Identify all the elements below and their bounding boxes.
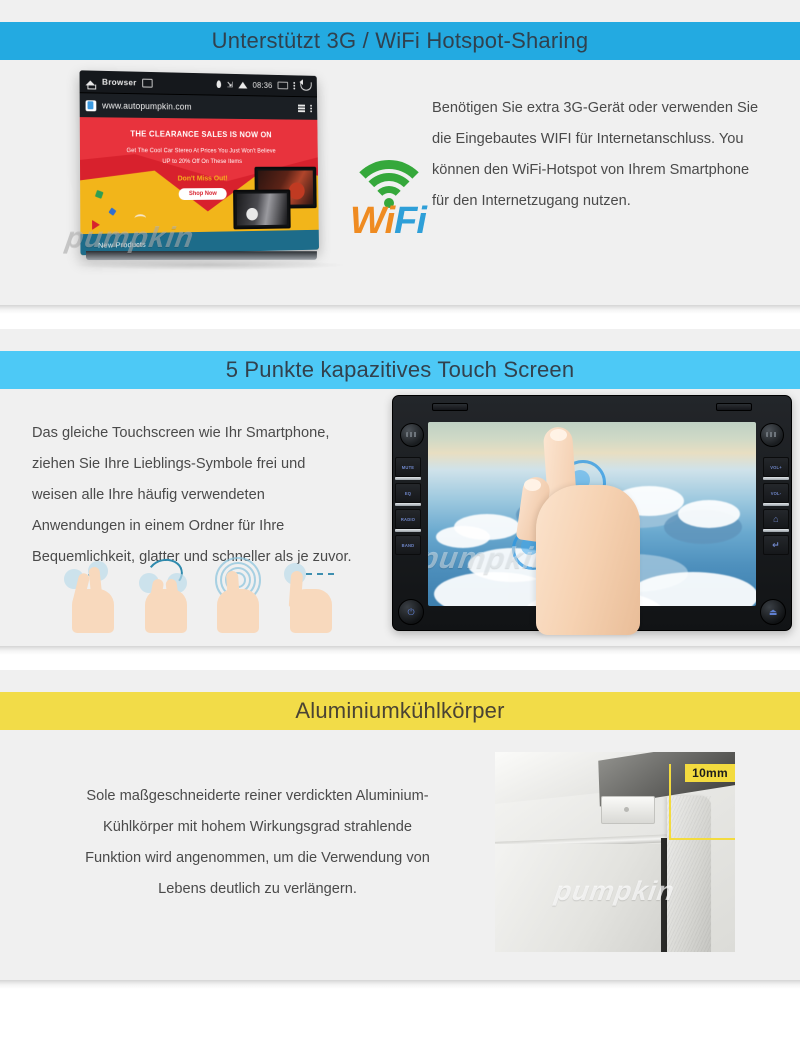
top-slot-left <box>432 403 468 411</box>
eject-icon[interactable]: ⏏ <box>760 599 786 625</box>
gap-after-section-1 <box>0 319 800 329</box>
button-divider <box>395 503 421 506</box>
top-slot-right <box>716 403 752 411</box>
wifi-signal-icon <box>238 81 247 88</box>
section-2-body-text: Das gleiche Touchscreen wie Ihr Smartpho… <box>32 418 352 573</box>
section-2-banner-title: 5 Punkte kapazitives Touch Screen <box>0 351 800 389</box>
location-pin-icon <box>217 80 222 88</box>
button-divider <box>395 529 421 532</box>
ad-headline: THE CLEARANCE SALES IS NOW ON <box>80 129 318 139</box>
palm <box>536 485 640 635</box>
section-3-body-text: Sole maßgeschneiderte reiner verdickten … <box>85 781 430 905</box>
back-arrow-icon[interactable]: ↵ <box>763 535 789 555</box>
bluetooth-icon: ⇲ <box>227 80 233 89</box>
browser-app-title: Browser <box>102 77 137 88</box>
aluminium-heatsink-fin <box>667 796 711 952</box>
section-2-top-padding <box>0 329 800 351</box>
section-1-banner-title: Unterstützt 3G / WiFi Hotspot-Sharing <box>0 22 800 60</box>
tablet-drop-shadow <box>76 260 344 270</box>
section-3-top-padding <box>0 670 800 692</box>
back-arrow-icon[interactable] <box>300 82 311 91</box>
pumpkin-watermark: pumpkin <box>553 876 677 907</box>
hand <box>217 589 259 633</box>
eq-button[interactable]: EQ <box>395 483 421 503</box>
section-wifi-hotspot: Unterstützt 3G / WiFi Hotspot-Sharing Br… <box>0 0 800 319</box>
browser-url-bar[interactable]: www.autopumpkin.com <box>80 92 318 120</box>
section-1-body: Browser ⇲ 08:36 <box>0 60 800 305</box>
section-1-top-padding <box>0 0 800 22</box>
mute-button[interactable]: MUTE <box>395 457 421 477</box>
button-divider <box>395 477 421 480</box>
hand <box>72 589 114 633</box>
confetti-shape <box>92 220 100 230</box>
ad-subline-2: UP to 20% Off On These Items <box>80 158 318 165</box>
ad-subline-1: Get The Cool Car Stereo At Prices You Ju… <box>80 147 318 155</box>
battery-icon <box>278 82 289 90</box>
shop-now-button[interactable]: Shop Now <box>179 188 227 200</box>
overflow-menu-icon[interactable] <box>310 105 312 113</box>
measurement-guide-horizontal <box>669 838 735 840</box>
car-stereo-image-front <box>233 189 291 229</box>
power-icon[interactable]: ⏻ <box>398 599 424 625</box>
section-3-body: Sole maßgeschneiderte reiner verdickten … <box>0 730 800 980</box>
measurement-guide-vertical <box>669 764 671 840</box>
volume-up-button[interactable]: VOL+ <box>763 457 789 477</box>
site-favicon <box>86 100 97 111</box>
tabs-icon[interactable] <box>298 105 305 112</box>
wifi-logo-text: WiFi <box>340 202 436 240</box>
status-bar-clock: 08:36 <box>253 80 273 90</box>
product-feature-page: Unterstützt 3G / WiFi Hotspot-Sharing Br… <box>0 0 800 1020</box>
car-stereo-head-unit: MUTE EQ RADIO BAND VOL+ VOL- ⌂ ↵ ⏻ ⏏ <box>392 395 792 631</box>
wifi-letter-w: W <box>350 200 385 242</box>
heatsink-photo: 10mm pumpkin <box>495 752 735 952</box>
section-1-body-text: Benötigen Sie extra 3G-Gerät oder verwen… <box>432 93 762 217</box>
swipe-gesture-icon <box>280 559 343 633</box>
wifi-letter-f: F <box>394 200 416 242</box>
section-3-banner-title: Aluminiumkühlkörper <box>0 692 800 730</box>
rotate-gesture-icon <box>135 559 198 633</box>
cast-icon[interactable] <box>142 78 152 87</box>
band-button[interactable]: BAND <box>395 535 421 555</box>
button-divider <box>763 529 789 532</box>
tablet-stand-foot <box>86 251 317 260</box>
hand <box>290 589 332 633</box>
home-icon[interactable] <box>85 76 96 87</box>
page-bottom-fill <box>0 994 800 1046</box>
section-1-divider <box>0 305 800 319</box>
clearance-sale-ad-banner[interactable]: THE CLEARANCE SALES IS NOW ON Get The Co… <box>80 117 319 255</box>
section-2-body: Das gleiche Touchscreen wie Ihr Smartpho… <box>0 389 800 646</box>
touching-hand-illustration <box>514 413 664 633</box>
motion-dash <box>306 573 334 575</box>
confetti-shape <box>95 190 104 199</box>
url-input[interactable]: www.autopumpkin.com <box>102 101 293 113</box>
ad-product-images <box>231 167 313 227</box>
android-browser-device-mock: Browser ⇲ 08:36 <box>72 70 352 270</box>
wifi-letter-i: i <box>385 200 395 242</box>
hand <box>145 589 187 633</box>
ad-footer-label: New Products <box>98 239 146 249</box>
left-knob[interactable] <box>400 423 424 447</box>
tablet-bezel: Browser ⇲ 08:36 <box>80 70 319 255</box>
section-3-divider <box>0 980 800 994</box>
button-divider <box>763 477 789 480</box>
tablet-perspective-wrapper: Browser ⇲ 08:36 <box>80 70 319 255</box>
pinch-gesture-icon <box>62 559 125 633</box>
section-touch-screen: 5 Punkte kapazitives Touch Screen Das gl… <box>0 329 800 660</box>
radio-button[interactable]: RADIO <box>395 509 421 529</box>
wifi-letter-i2: i <box>416 200 426 242</box>
confetti-shape <box>108 208 116 216</box>
overflow-menu-icon[interactable] <box>294 82 296 90</box>
volume-down-button[interactable]: VOL- <box>763 483 789 503</box>
fingernail <box>550 429 567 441</box>
metal-clip <box>601 796 655 824</box>
fingernail <box>524 479 541 491</box>
button-divider <box>763 503 789 506</box>
section-2-divider <box>0 646 800 660</box>
gap-after-section-2 <box>0 660 800 670</box>
right-knob[interactable] <box>760 423 784 447</box>
status-bar-spacer <box>158 83 211 84</box>
section-aluminium-heatsink: Aluminiumkühlkörper Sole maßgeschneidert… <box>0 670 800 994</box>
gesture-illustrations <box>62 559 342 633</box>
measurement-badge: 10mm <box>685 764 735 782</box>
home-icon[interactable]: ⌂ <box>763 509 789 529</box>
multi-tap-gesture-icon <box>207 559 270 633</box>
wifi-logo: WiFi <box>340 160 436 260</box>
jeep-photo <box>237 193 287 225</box>
cloud-shape <box>678 500 740 528</box>
confetti-shape <box>135 214 146 222</box>
